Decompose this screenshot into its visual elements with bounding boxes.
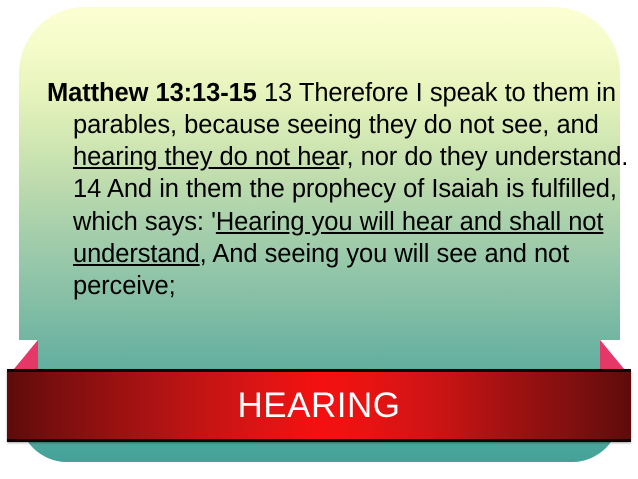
title-banner: HEARING <box>7 369 631 442</box>
scripture-verse-text: Matthew 13:13-15 13 Therefore I speak to… <box>47 77 638 303</box>
banner-title-label: HEARING <box>7 369 631 442</box>
verse-underlined-phrase-1: hearing they do not hea <box>73 143 339 171</box>
presentation-slide: Matthew 13:13-15 13 Therefore I speak to… <box>0 0 638 479</box>
verse-reference: Matthew 13:13-15 <box>47 79 257 107</box>
